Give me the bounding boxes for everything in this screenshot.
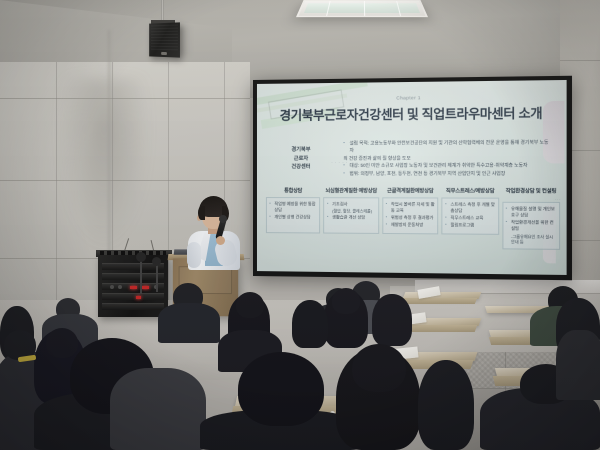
column-bullet: 힐링프로그램 xyxy=(445,223,495,230)
microphone-head xyxy=(152,257,161,266)
intro-bullet: 대상: 50인 미만 소규모 사업장 노동자 및 보건관리 체계가 취약한 특수… xyxy=(343,162,551,169)
service-column: 작업환경상담 및 컨설팅 · · · 유해물질 설명 및 개인보호구 상담 작업… xyxy=(502,187,560,249)
microphone-head xyxy=(136,252,146,262)
ceiling-speaker xyxy=(149,22,180,57)
column-body: 유해물질 설명 및 개인보호구 상담 작업환경개선을 위한 컨설팅 -그룹유해요… xyxy=(502,202,560,250)
column-body: 기초검사 (혈압, 혈당, 콜레스테롤) 생활습관 개선 상담 xyxy=(324,197,379,234)
left-arm xyxy=(187,242,201,268)
org-label-line: 근로자 xyxy=(273,154,329,163)
column-body: 스트레스 측정 후 개별 맞춤상담 직무스트레스 교육 힐링프로그램 xyxy=(442,197,499,234)
column-header: 통합상담 xyxy=(266,187,321,197)
speaker-mount-rod xyxy=(161,0,164,22)
slide-org-label: 경기북부 근로자 건강센터 xyxy=(273,146,329,172)
lecture-hall-photo: Chapter 1 경기북부근로자건강센터 및 직업트라우마센터 소개 경기북부… xyxy=(0,0,600,450)
column-bullet: 재발방지 운동처방 xyxy=(386,222,435,229)
org-label-line: 건강센터 xyxy=(273,163,329,172)
intro-bullet: 설립 목적: 고용노동부와 안전보건공단의 지원 및 기관의 산학협력체의 전문… xyxy=(343,139,551,154)
service-column: 직무스트레스/예방상담 스트레스 측정 후 개별 맞춤상담 직무스트레스 교육 … xyxy=(442,187,499,249)
microphone-capsule xyxy=(219,215,227,223)
av-unit xyxy=(102,273,164,280)
column-body: 직업병 예방을 위한 통합상담 개인별 상병 건강상담 xyxy=(266,197,321,233)
intro-bullet: 범위: 의정부, 남양, 포천, 동두천, 연천 등 경기북부 지역 산업단지 … xyxy=(343,170,551,177)
slide-service-columns: 통합상담 직업병 예방을 위한 통합상담 개인별 상병 건강상담 뇌심혈관계질환… xyxy=(266,187,560,250)
slide-intro-list: 설립 목적: 고용노동부와 안전보건공단의 지원 및 기관의 산학협력체의 전문… xyxy=(343,139,551,178)
service-column: 근골격계질환예방상담 작업시 올바른 자세 및 활동 교육 위험성 측정 후 결… xyxy=(382,187,438,248)
slide-surface: Chapter 1 경기북부근로자건강센터 및 직업트라우마센터 소개 경기북부… xyxy=(257,80,567,275)
column-header: 직무스트레스/예방상담 xyxy=(442,187,499,197)
av-mixer xyxy=(102,283,164,290)
column-bullet: 기초검사 xyxy=(327,201,375,207)
ceiling-light-fixture xyxy=(296,0,428,17)
column-body: 작업시 올바른 자세 및 활동 교육 위험성 측정 후 결과평가 재발방지 운동… xyxy=(382,197,438,234)
slide-title: 경기북부근로자건강센터 및 직업트라우마센터 소개 xyxy=(257,103,567,124)
column-bullet: 직무스트레스 교육 xyxy=(445,215,495,222)
service-column: 통합상담 직업병 예방을 위한 통합상담 개인별 상병 건강상담 xyxy=(266,187,321,247)
column-header: 뇌심혈관계질환 예방상담 xyxy=(324,187,379,197)
wall-stain xyxy=(58,78,150,248)
service-column: 뇌심혈관계질환 예방상담 기초검사 (혈압, 혈당, 콜레스테롤) 생활습관 개… xyxy=(324,187,379,248)
microphone-stand xyxy=(140,258,142,294)
speaker-logo xyxy=(161,52,167,55)
column-bullet: 작업시 올바른 자세 및 활동 교육 xyxy=(386,201,435,214)
column-bullet: 개인별 상병 건강상담 xyxy=(269,214,317,220)
microphone-stand xyxy=(156,262,158,292)
column-header: 작업환경상담 및 컨설팅 xyxy=(502,187,560,197)
av-unit xyxy=(102,303,164,310)
hand xyxy=(216,236,225,245)
column-bullet: 작업환경개선을 위한 컨설팅 xyxy=(506,220,557,233)
column-bullet: 스트레스 측정 후 개별 맞춤상담 xyxy=(445,202,495,215)
projection-screen: Chapter 1 경기북부근로자건강센터 및 직업트라우마센터 소개 경기북부… xyxy=(253,76,572,281)
column-bullet: 직업병 예방을 위한 통합상담 xyxy=(269,201,317,214)
column-subline: -그룹유해요인 조사 실시안내 등 xyxy=(506,233,557,245)
org-label-line: 경기북부 xyxy=(273,146,329,155)
av-unit xyxy=(102,293,164,300)
hair xyxy=(198,206,205,220)
column-header: 근골격계질환예방상담 xyxy=(382,187,438,197)
column-bullet: 위험성 측정 후 결과평가 xyxy=(386,215,435,222)
presenter xyxy=(186,196,246,270)
column-bullet: 유해물질 설명 및 개인보호구 상담 xyxy=(506,206,557,219)
column-bullet: 생활습관 개선 상담 xyxy=(327,214,375,220)
